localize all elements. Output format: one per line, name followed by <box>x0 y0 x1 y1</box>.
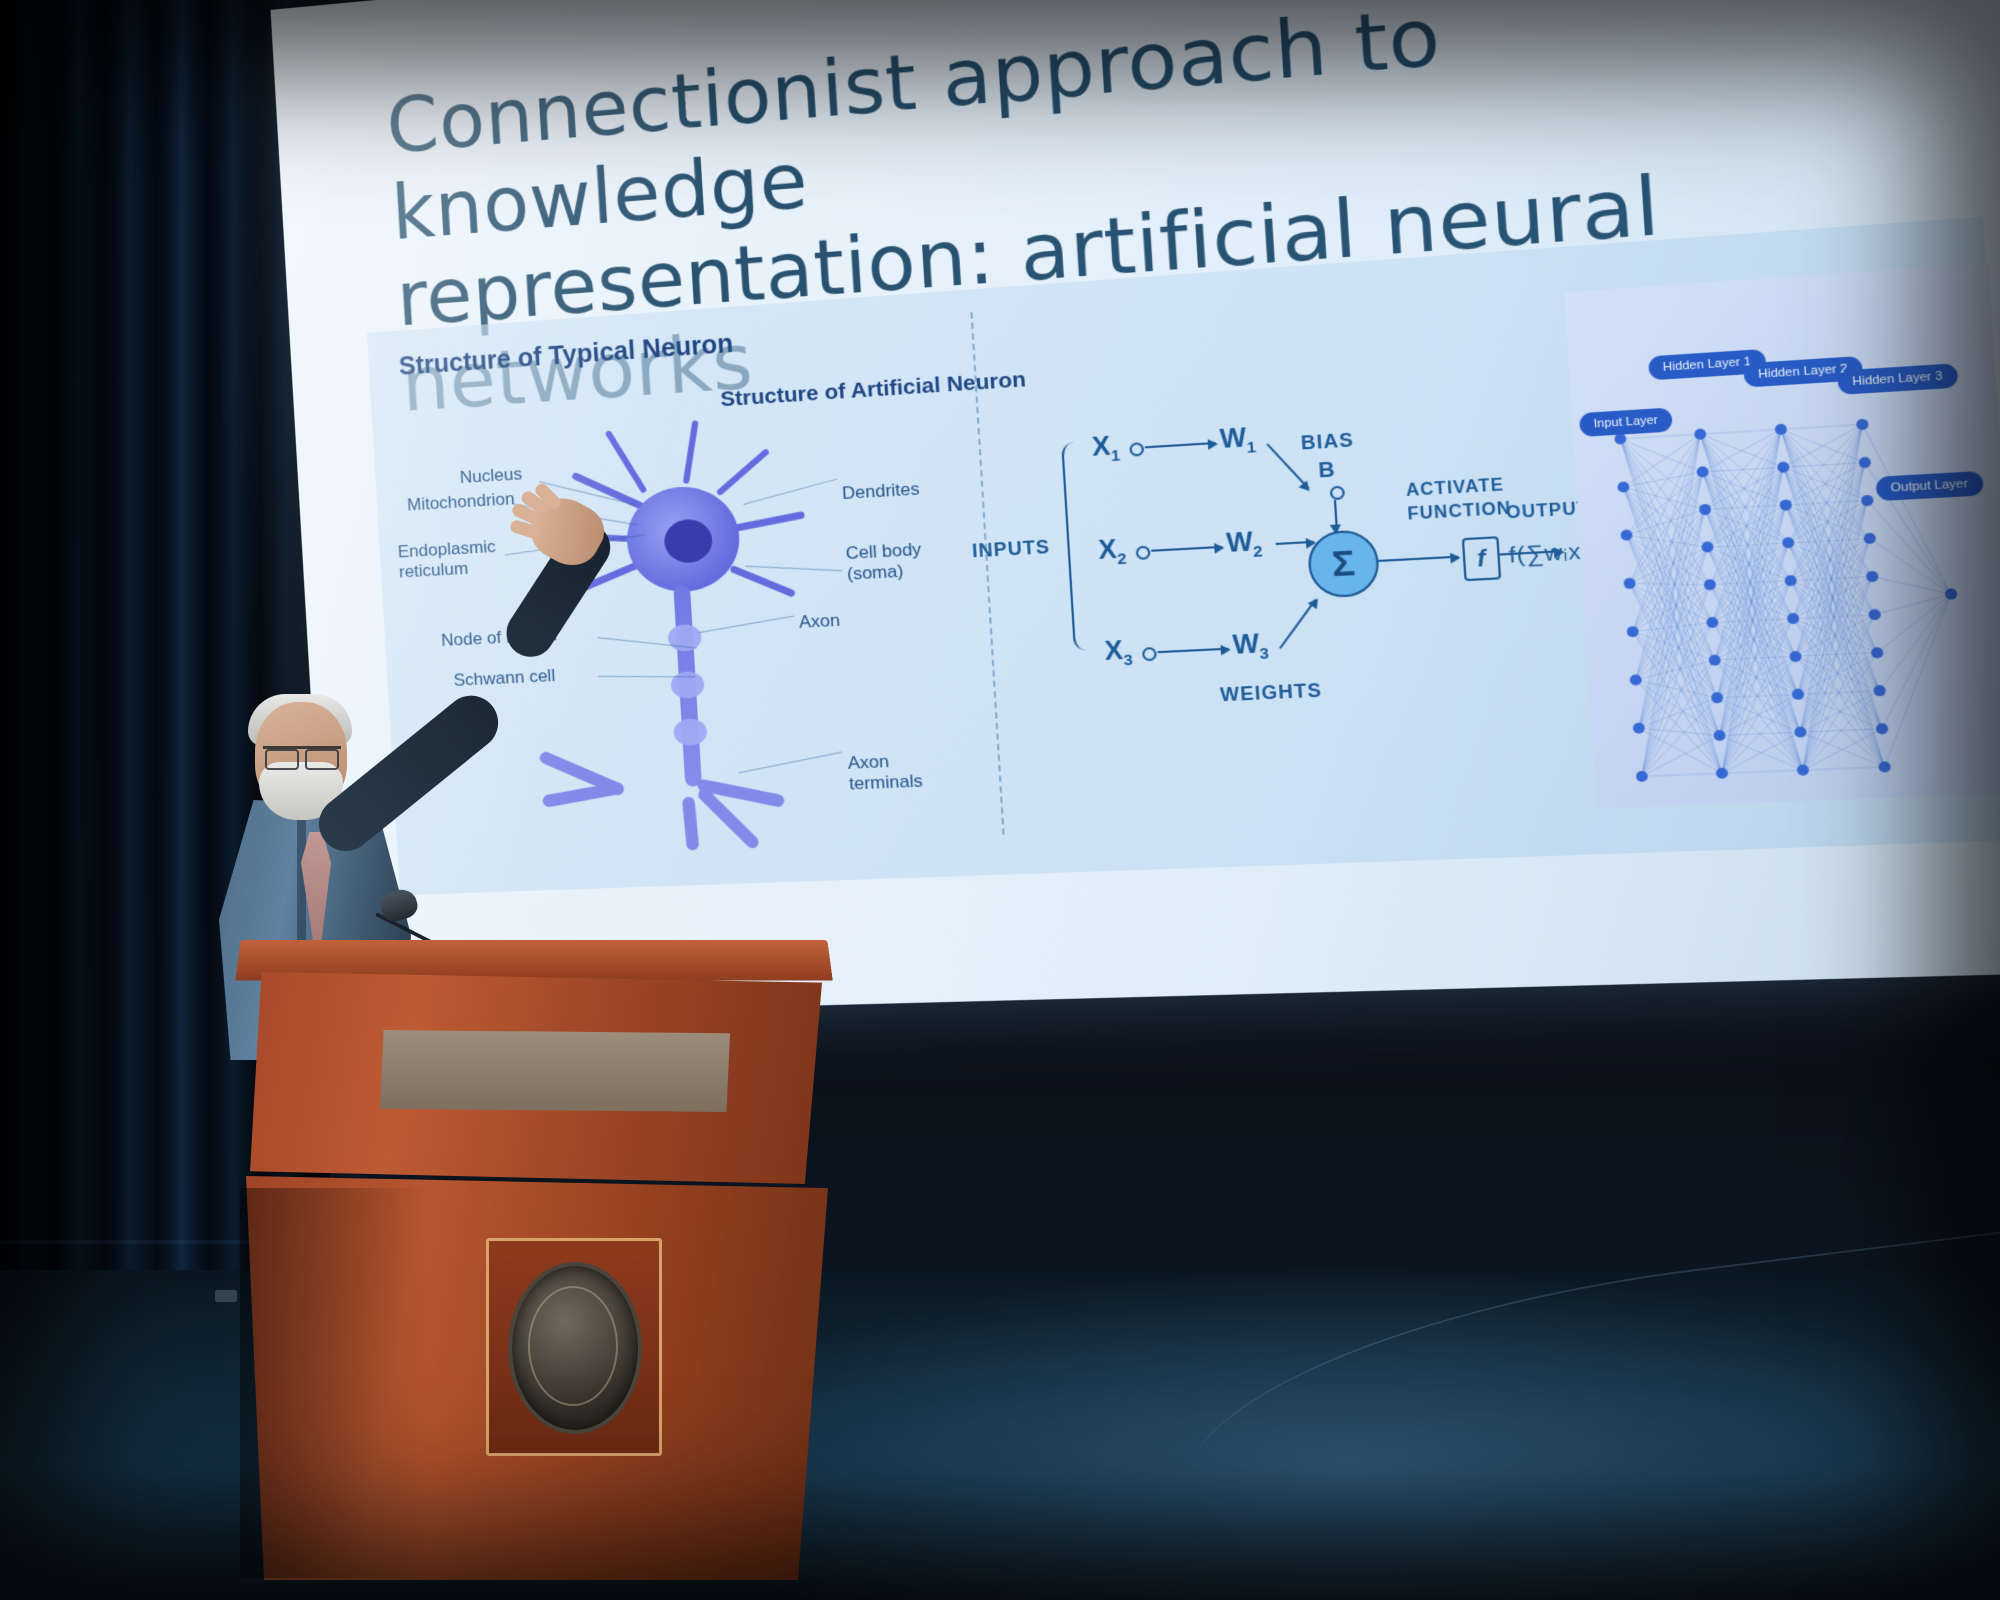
weight-w3: W3 <box>1232 629 1270 665</box>
inputs-label: INPUTS <box>971 536 1050 562</box>
input-x3: X3 <box>1104 635 1134 670</box>
activate-function-label-2: FUNCTION <box>1407 500 1512 525</box>
bias-dot <box>1330 486 1346 501</box>
label-endoplasmic-reticulum: Endoplasmic reticulum <box>397 537 497 582</box>
bias-label: BIAS <box>1300 429 1354 455</box>
label-nucleus: Nucleus <box>459 464 522 488</box>
summation-node: Σ <box>1307 529 1381 599</box>
label-axon: Axon <box>799 610 841 632</box>
seal-inner-ring <box>528 1286 618 1406</box>
weight-w1: W1 <box>1219 422 1257 458</box>
lectern-front-panel <box>380 1030 730 1112</box>
inputs-brace <box>1061 441 1100 651</box>
input-x3-dot <box>1142 647 1157 661</box>
network-graph <box>1564 263 2000 809</box>
label-schwann-cell: Schwann cell <box>453 666 556 691</box>
label-axon-terminals: Axon terminals <box>847 750 923 794</box>
input-x2-dot <box>1136 546 1151 560</box>
label-dendrites: Dendrites <box>842 479 921 504</box>
lectern-shadow <box>240 1188 430 1578</box>
eyeglasses-icon <box>263 746 341 767</box>
weight-w2: W2 <box>1225 527 1263 563</box>
input-x1: X1 <box>1091 431 1121 466</box>
presentation-photo: Connectionist approach to knowledge repr… <box>0 0 2000 1600</box>
artificial-neuron-diagram: INPUTS X1 W1 X2 W2 X3 W3 WEIGHTS BIAS B … <box>1008 354 1621 832</box>
activation-box: f <box>1462 536 1501 581</box>
input-x2: X2 <box>1097 534 1127 569</box>
lectern <box>228 938 838 1578</box>
activate-function-label-1: ACTIVATE <box>1405 476 1504 501</box>
bias-symbol: B <box>1318 458 1337 484</box>
label-mitochondrion: Mitochondrion <box>407 489 516 515</box>
input-x1-dot <box>1129 442 1144 457</box>
weights-label: WEIGHTS <box>1220 680 1323 707</box>
neural-network-diagram: Input Layer Hidden Layer 1 Hidden Layer … <box>1564 263 2000 809</box>
label-cell-body: Cell body (soma) <box>845 539 923 584</box>
